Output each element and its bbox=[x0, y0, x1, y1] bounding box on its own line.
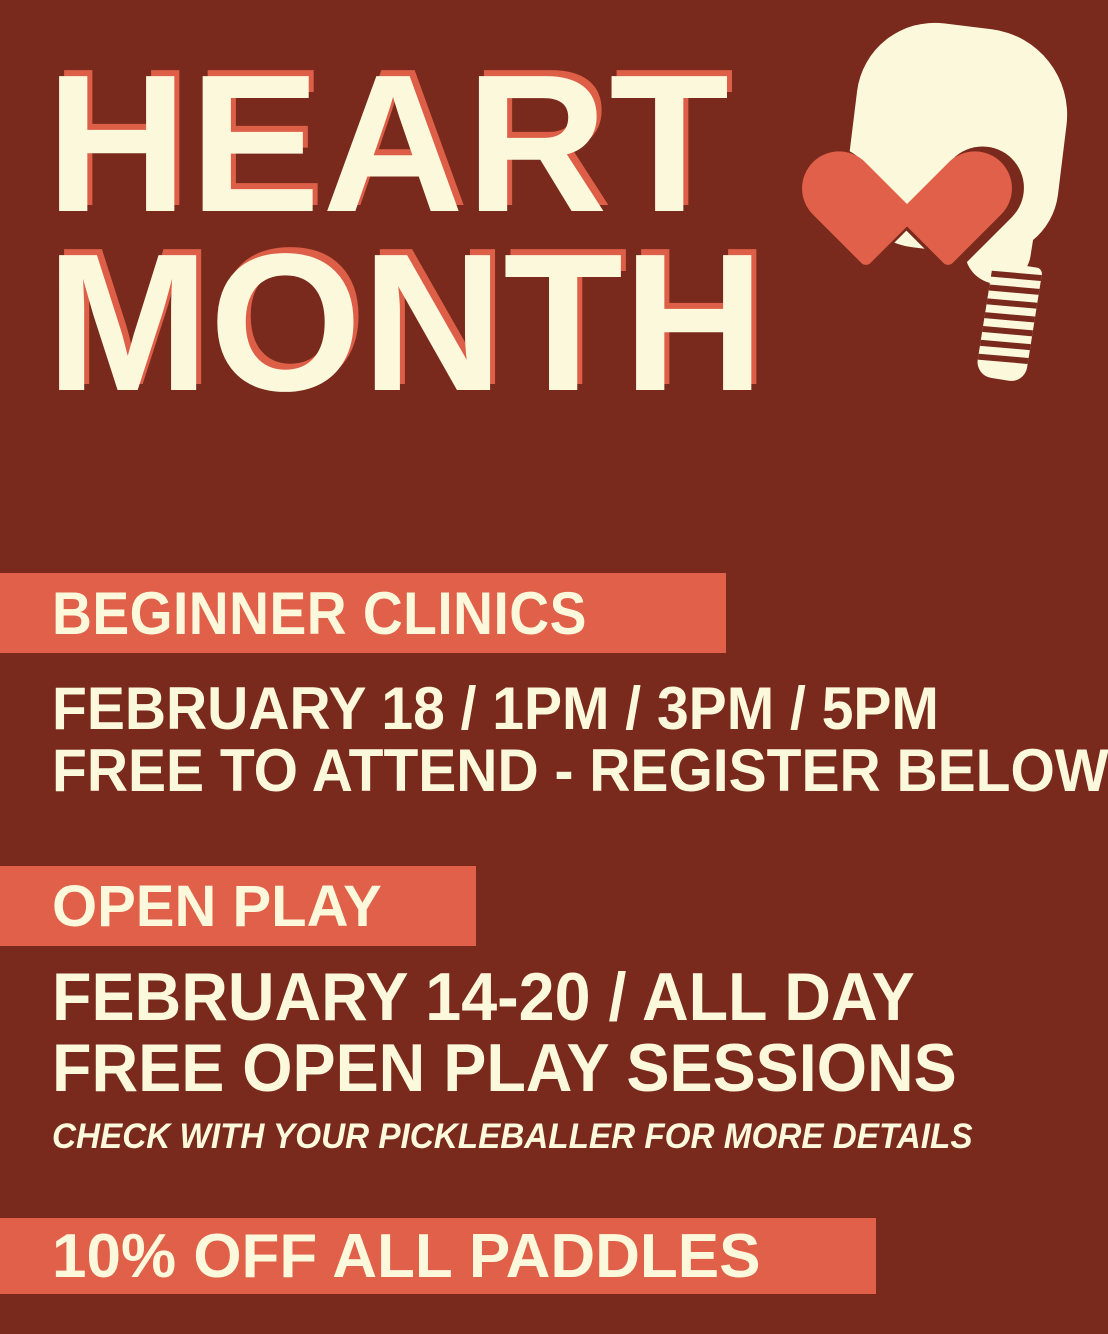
banner-beginner-clinics-label: BEGINNER CLINICS bbox=[52, 579, 587, 648]
grip-stripe bbox=[975, 325, 1043, 338]
banner-open-play: OPEN PLAY bbox=[0, 866, 476, 946]
banner-paddle-discount: 10% OFF ALL PADDLES bbox=[0, 1218, 876, 1294]
pickleball-paddle-icon bbox=[838, 18, 1098, 388]
grip-stripe bbox=[975, 283, 1043, 296]
grip-stripe bbox=[975, 297, 1043, 310]
heart-icon bbox=[840, 128, 984, 268]
banner-beginner-clinics: BEGINNER CLINICS bbox=[0, 573, 726, 653]
open-play-note: CHECK WITH YOUR PICKLEBALLER FOR MORE DE… bbox=[52, 1117, 973, 1157]
headline-line-month: MONTH bbox=[46, 241, 946, 406]
banner-open-play-label: OPEN PLAY bbox=[52, 873, 382, 940]
clinics-registration-line: FREE TO ATTEND - REGISTER BELOW bbox=[52, 740, 1108, 802]
clinics-schedule-line: FEBRUARY 18 / 1PM / 3PM / 5PM bbox=[52, 678, 1108, 740]
open-play-sessions-line: FREE OPEN PLAY SESSIONS bbox=[52, 1033, 957, 1104]
clinics-details: FEBRUARY 18 / 1PM / 3PM / 5PM FREE TO AT… bbox=[52, 678, 1108, 803]
open-play-schedule-line: FEBRUARY 14-20 / ALL DAY bbox=[52, 962, 957, 1033]
open-play-details: FEBRUARY 14-20 / ALL DAY FREE OPEN PLAY … bbox=[52, 962, 1004, 1103]
heart-fill bbox=[840, 128, 984, 268]
grip-stripe bbox=[975, 352, 1043, 365]
headline: HEART MONTH bbox=[46, 62, 946, 405]
poster-canvas: HEART MONTH BEGINNER CLINICS bbox=[0, 0, 1108, 1334]
banner-paddle-discount-label: 10% OFF ALL PADDLES bbox=[52, 1221, 761, 1292]
grip-stripe bbox=[975, 311, 1043, 324]
grip-stripe bbox=[975, 339, 1043, 352]
